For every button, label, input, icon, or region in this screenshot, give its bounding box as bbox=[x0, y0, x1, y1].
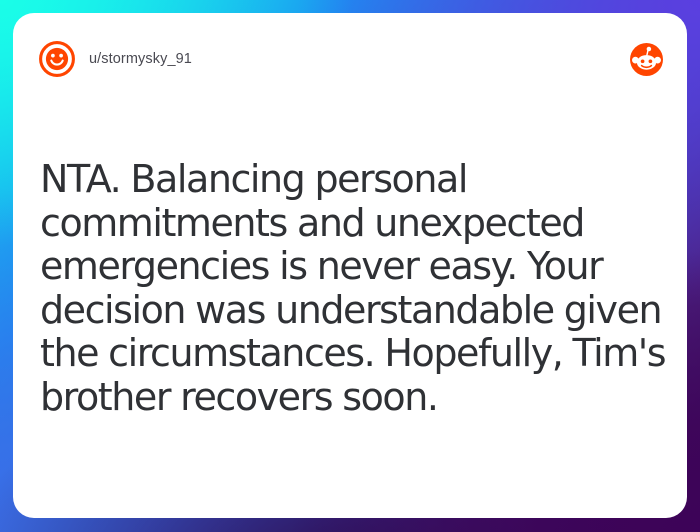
comment-text: NTA. Balancing personal commitments and … bbox=[40, 158, 667, 419]
card-header: u/stormysky_91 bbox=[13, 13, 687, 105]
reddit-logo[interactable] bbox=[630, 43, 663, 76]
reddit-comment-card: u/stormysky_91 bbox=[13, 13, 687, 518]
author-block[interactable]: u/stormysky_91 bbox=[38, 40, 192, 78]
card-body: NTA. Balancing personal commitments and … bbox=[40, 158, 667, 448]
avatar[interactable] bbox=[38, 40, 76, 78]
reddit-snoo-icon bbox=[630, 43, 663, 76]
author-username: u/stormysky_91 bbox=[89, 51, 192, 67]
smiley-face-avatar-icon bbox=[38, 40, 76, 78]
screenshot-canvas: u/stormysky_91 bbox=[0, 0, 700, 532]
